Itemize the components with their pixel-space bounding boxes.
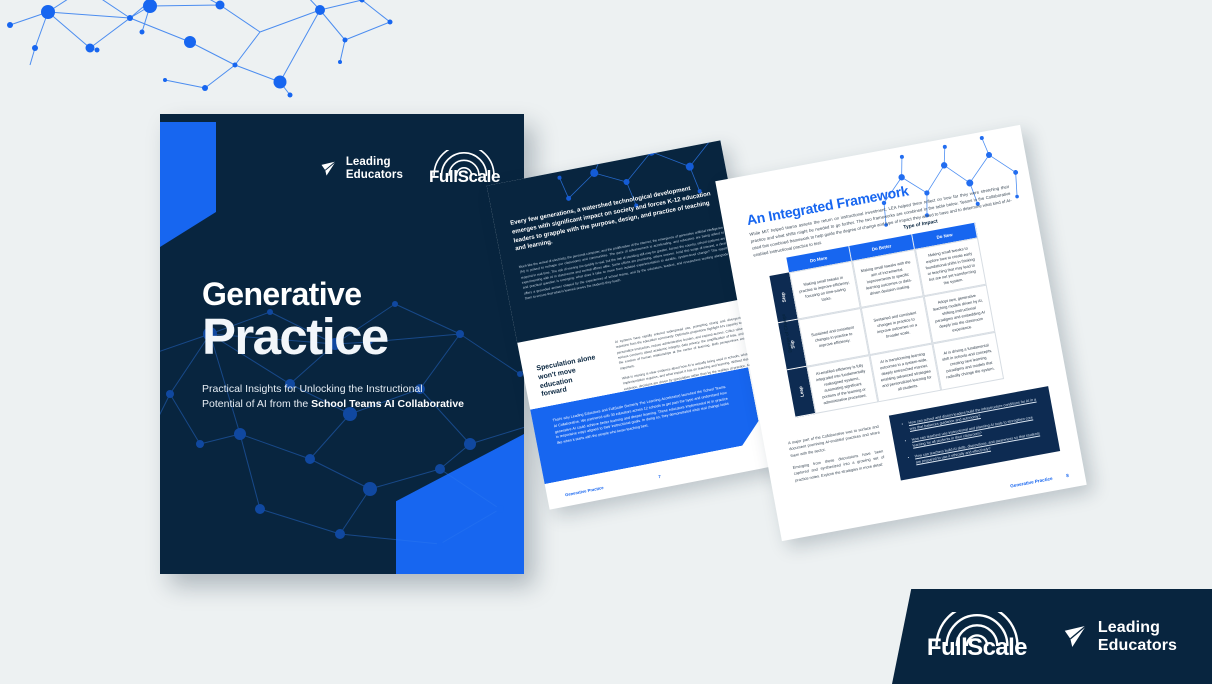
footer-label: Generative Practice: [1010, 476, 1053, 489]
framework-links-list: How can school and district leaders buil…: [901, 397, 1047, 467]
cover-subtitle: Practical Insights for Unlocking the Ins…: [202, 382, 472, 412]
poster-canvas: Leading Educators FullScale Generative: [0, 0, 1212, 684]
page-hero-block: Every few generations, a watershed techn…: [487, 140, 761, 344]
paper-plane-icon: [319, 159, 339, 179]
framework-footer: Generative Practice 8: [1010, 473, 1069, 489]
report-cover[interactable]: Leading Educators FullScale Generative: [160, 114, 524, 574]
footer-label: Generative Practice: [565, 485, 604, 497]
paper-plane-icon: [1061, 622, 1091, 652]
network-decoration-icon: [0, 0, 410, 130]
framework-body: A major part of the Collaborative was to…: [788, 424, 888, 490]
cover-accent-shape-left: [160, 122, 216, 247]
page-section-heading: Speculation alone won't move education f…: [536, 352, 613, 400]
le-line2: Educators: [346, 169, 403, 181]
brandbar-fullscale-logo: FullScale: [927, 612, 1027, 662]
cover-title-line1: Generative: [202, 278, 388, 310]
brandbar-leading-educators-label: Leading Educators: [1098, 619, 1177, 654]
leading-educators-label: Leading Educators: [346, 156, 403, 181]
cover-title-line2: Practice: [202, 312, 388, 362]
cover-subtitle-line1: Practical Insights for Unlocking the Ins…: [202, 383, 423, 395]
fullscale-wordmark: FullScale: [429, 167, 500, 187]
table-cell: AI is driving a fundamental shift in sch…: [932, 332, 1004, 391]
brandbar-leading-educators-logo: Leading Educators: [1061, 619, 1177, 654]
cover-subtitle-bold: School Teams AI Collaborative: [311, 398, 464, 410]
le-line2: Educators: [1098, 637, 1177, 654]
cover-title: Generative Practice: [202, 278, 388, 362]
spread-page-right[interactable]: An Integrated Framework While MIT helped…: [715, 125, 1087, 541]
brand-bar: FullScale Leading Educators: [892, 589, 1212, 684]
le-line1: Leading: [1098, 619, 1177, 636]
footer-page-number: 7: [658, 474, 661, 479]
cover-subtitle-line2a: Potential of AI from the: [202, 398, 311, 410]
cover-logo-row: Leading Educators FullScale: [319, 150, 500, 187]
framework-links-box: How can school and district leaders buil…: [889, 386, 1060, 480]
footer-page-number: 8: [1066, 473, 1069, 478]
leading-educators-logo: Leading Educators: [319, 156, 403, 181]
fullscale-logo: FullScale: [429, 150, 500, 187]
le-line1: Leading: [346, 156, 403, 168]
table-cell: AI-enabled efficiency is fully integrate…: [807, 355, 879, 414]
fullscale-wordmark: FullScale: [927, 634, 1027, 662]
table-cell: AI is transforming learning outcomes in …: [870, 343, 942, 402]
